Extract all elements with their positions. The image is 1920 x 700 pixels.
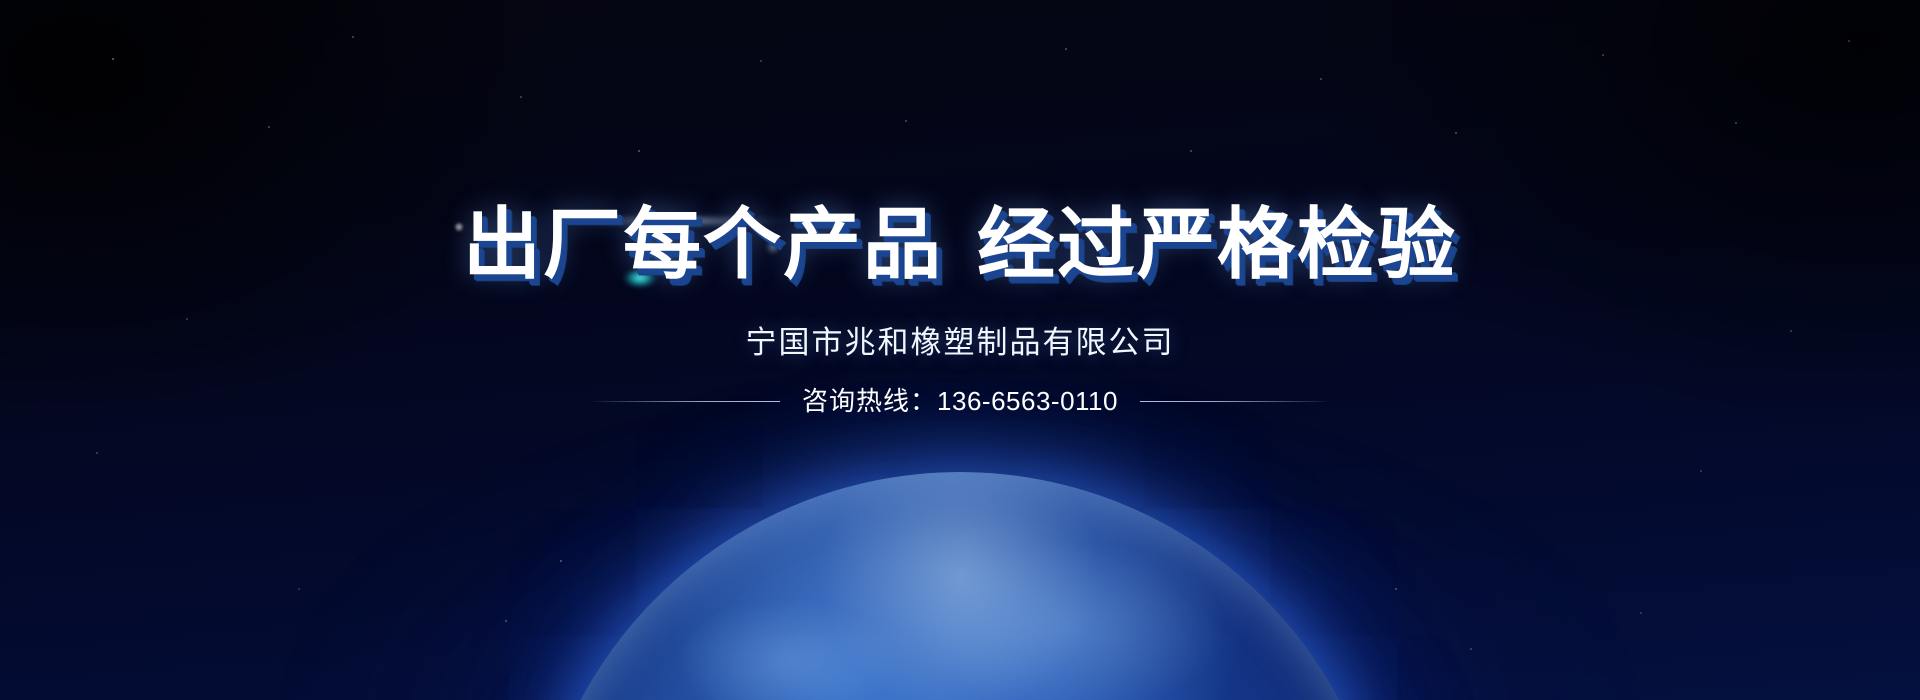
headline-part-1: 出厂每个产品 (463, 200, 943, 288)
hotline-label: 咨询热线： (802, 386, 937, 416)
headline-part-2: 经过严格检验 (977, 200, 1457, 288)
company-name: 宁国市兆和橡塑制品有限公司 (0, 327, 1920, 358)
divider-line-left (594, 401, 780, 402)
banner-content: 出厂每个产品经过严格检验 宁国市兆和橡塑制品有限公司 咨询热线：136-6563… (0, 0, 1920, 700)
banner-headline: 出厂每个产品经过严格检验 (0, 205, 1920, 283)
divider-line-right (1140, 401, 1326, 402)
hotline-row: 咨询热线：136-6563-0110 (0, 388, 1920, 414)
hotline-text: 咨询热线：136-6563-0110 (802, 388, 1118, 414)
promo-banner: 出厂每个产品经过严格检验 宁国市兆和橡塑制品有限公司 咨询热线：136-6563… (0, 0, 1920, 700)
hotline-number: 136-6563-0110 (937, 386, 1118, 416)
